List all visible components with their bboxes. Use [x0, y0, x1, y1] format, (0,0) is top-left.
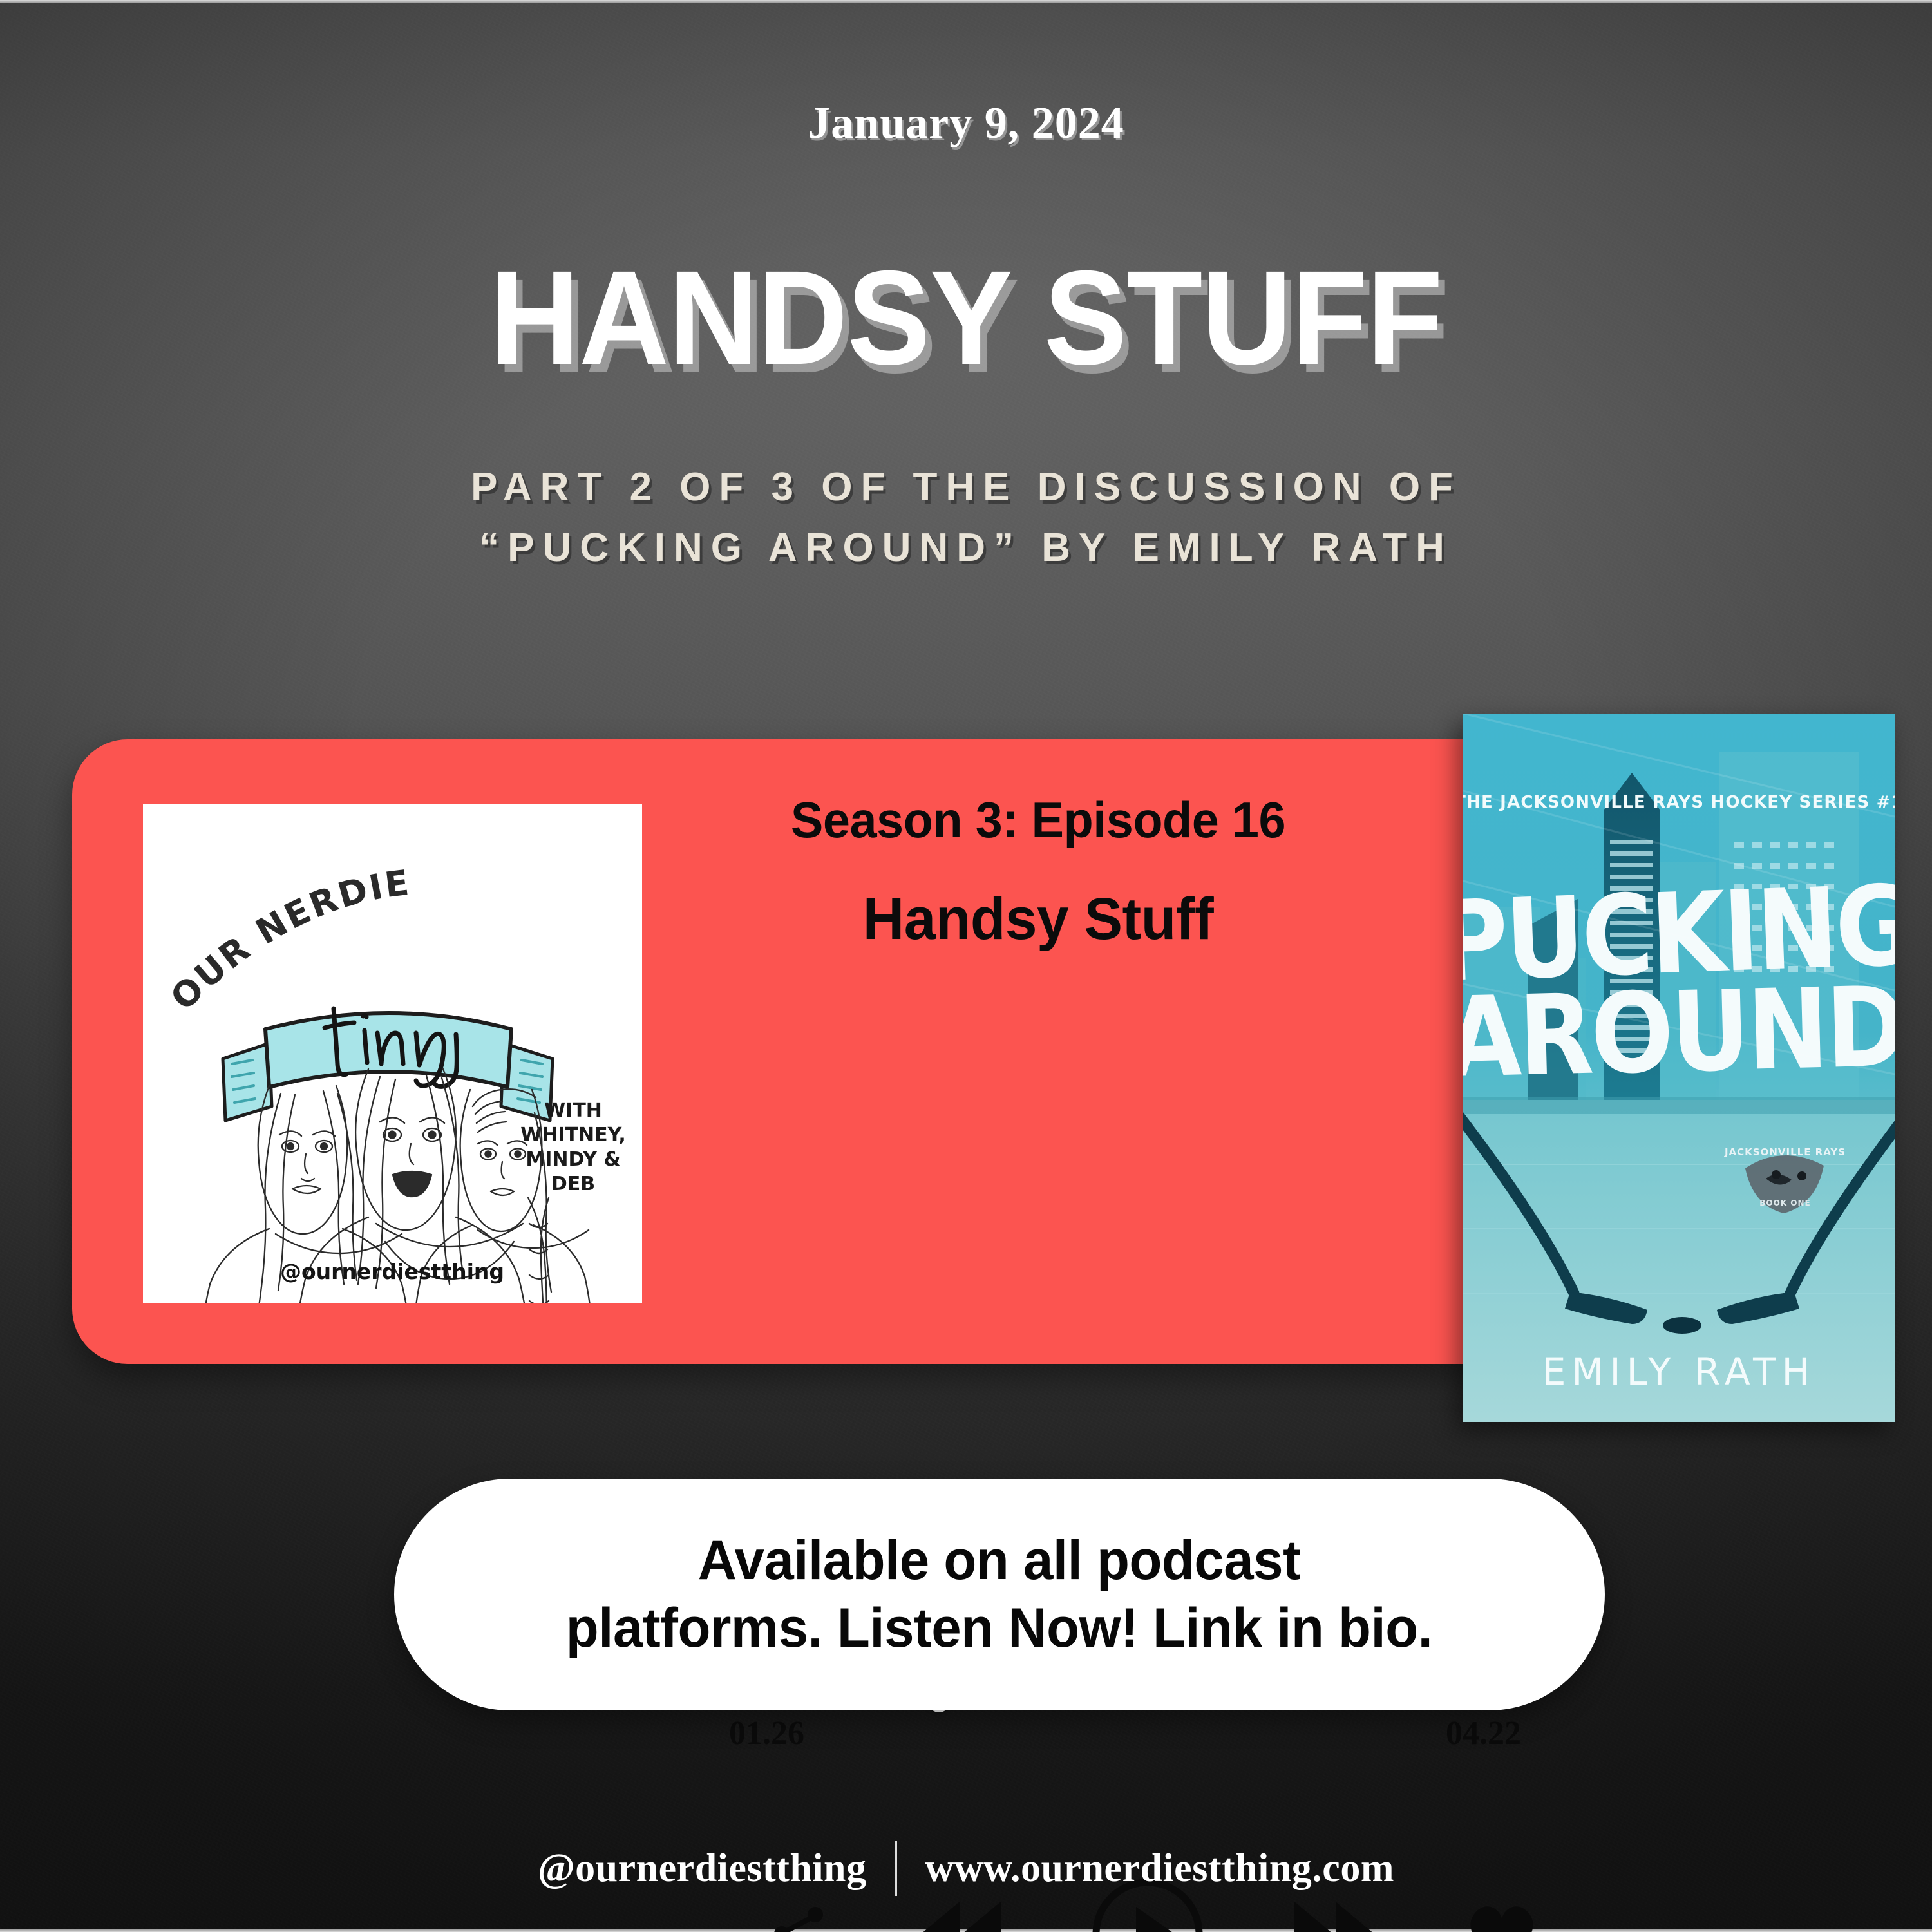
footer-divider [895, 1841, 897, 1896]
book-badge-text: JACKSONVILLE RAYS [1724, 1146, 1846, 1158]
page-title: HANDSY STUFF [68, 251, 1864, 385]
footer-handle[interactable]: @ournerdiestthing [538, 1846, 867, 1891]
fast-forward-icon[interactable] [1289, 1898, 1379, 1932]
svg-text:WHITNEY,: WHITNEY, [520, 1124, 626, 1146]
podcast-promo-poster: January 9, 2024 HANDSY STUFF PART 2 OF 3… [0, 0, 1932, 1932]
podcast-player-card: OUR NERDIEST [72, 739, 1528, 1364]
svg-text:WITH: WITH [544, 1099, 602, 1122]
time-labels: 01.26 04.22 [729, 1714, 1521, 1753]
episode-title: Handsy Stuff [663, 885, 1413, 953]
cta-text: Available on all podcast platforms. List… [510, 1527, 1489, 1662]
podcast-cover-art: OUR NERDIEST [143, 804, 642, 1303]
share-icon[interactable] [768, 1902, 832, 1932]
page-subtitle: PART 2 OF 3 OF THE DISCUSSION OF “PUCKIN… [0, 457, 1932, 578]
subtitle-line-1: PART 2 OF 3 OF THE DISCUSSION OF [0, 457, 1932, 518]
book-title-line-2: AROUND [1463, 963, 1895, 1103]
cta-banner[interactable]: Available on all podcast platforms. List… [394, 1479, 1605, 1710]
rewind-icon[interactable] [916, 1898, 1006, 1932]
top-edge-highlight [0, 0, 1932, 3]
cover-handle: @ournerdiestthing [280, 1259, 504, 1284]
book-badge-sub: BOOK ONE [1759, 1198, 1810, 1207]
episode-date: January 9, 2024 [0, 98, 1932, 149]
book-cover: THE JACKSONVILLE RAYS HOCKEY SERIES #1 P… [1463, 714, 1895, 1422]
footer-website[interactable]: www.ournerdiestthing.com [925, 1846, 1394, 1891]
subtitle-line-2: “PUCKING AROUND” BY EMILY RATH [0, 518, 1932, 578]
current-time-label: 01.26 [729, 1714, 804, 1752]
cta-line-1: Available on all podcast [698, 1529, 1301, 1591]
cta-line-2: platforms. Listen Now! Link in bio. [566, 1597, 1433, 1659]
svg-text:DEB: DEB [551, 1173, 595, 1195]
season-episode-label: Season 3: Episode 16 [663, 791, 1413, 849]
episode-meta: Season 3: Episode 16 Handsy Stuff [652, 791, 1425, 953]
footer: @ournerdiestthing www.ournerdiestthing.c… [0, 1841, 1932, 1896]
heart-icon[interactable] [1463, 1898, 1540, 1932]
total-time-label: 04.22 [1446, 1714, 1521, 1752]
book-author: EMILY RATH [1542, 1350, 1815, 1394]
